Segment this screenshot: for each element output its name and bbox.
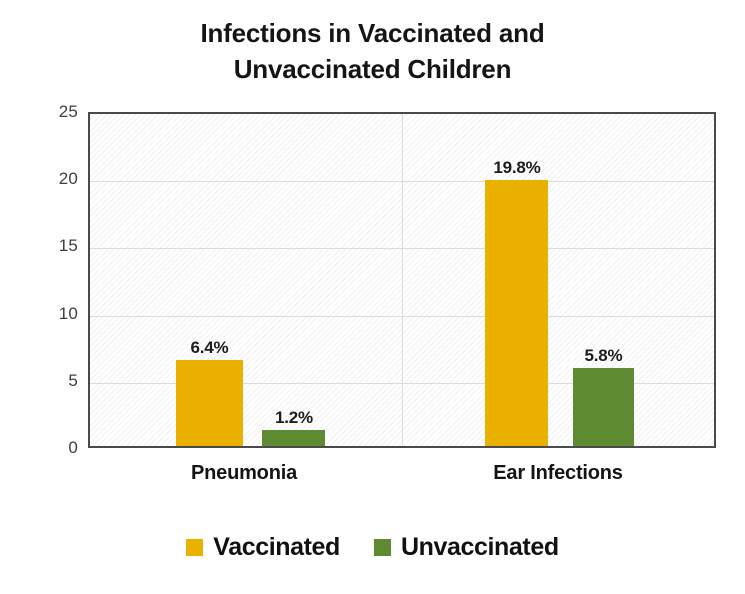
legend-swatch-vaccinated-icon <box>186 539 203 556</box>
chart-title-line-2: Unvaccinated Children <box>60 52 685 88</box>
y-tick-0: 0 <box>34 438 78 458</box>
legend-item-vaccinated[interactable]: Vaccinated <box>186 535 340 560</box>
bar-pneumonia-unvaccinated[interactable] <box>262 430 325 446</box>
y-tick-15: 15 <box>34 236 78 256</box>
category-separator <box>402 114 403 446</box>
legend-swatch-unvaccinated-icon <box>374 539 391 556</box>
bar-ear-infections-vaccinated[interactable] <box>485 180 548 446</box>
bar-chart: Infections in Vaccinated and Unvaccinate… <box>0 0 745 594</box>
legend-item-unvaccinated[interactable]: Unvaccinated <box>374 535 559 560</box>
bar-ear-infections-unvaccinated[interactable] <box>573 368 634 446</box>
x-axis: Pneumonia Ear Infections <box>88 462 716 496</box>
y-tick-25: 25 <box>34 102 78 122</box>
chart-title-line-1: Infections in Vaccinated and <box>60 16 685 52</box>
data-label-pneumonia-vaccinated: 6.4% <box>176 338 243 358</box>
y-tick-10: 10 <box>34 304 78 324</box>
legend-label-vaccinated: Vaccinated <box>213 535 340 560</box>
legend: Vaccinated Unvaccinated <box>0 535 745 560</box>
y-axis: 25 20 15 10 5 0 <box>28 112 78 448</box>
chart-title: Infections in Vaccinated and Unvaccinate… <box>60 16 685 88</box>
y-tick-5: 5 <box>34 371 78 391</box>
y-tick-20: 20 <box>34 169 78 189</box>
x-tick-ear-infections: Ear Infections <box>400 462 716 485</box>
data-label-ear-infections-vaccinated: 19.8% <box>477 158 557 178</box>
data-label-pneumonia-unvaccinated: 1.2% <box>258 408 330 428</box>
plot-area: 6.4% 1.2% 19.8% 5.8% <box>88 112 716 448</box>
bar-pneumonia-vaccinated[interactable] <box>176 360 243 446</box>
data-label-ear-infections-unvaccinated: 5.8% <box>569 346 638 366</box>
x-tick-pneumonia: Pneumonia <box>88 462 400 485</box>
legend-label-unvaccinated: Unvaccinated <box>401 535 559 560</box>
